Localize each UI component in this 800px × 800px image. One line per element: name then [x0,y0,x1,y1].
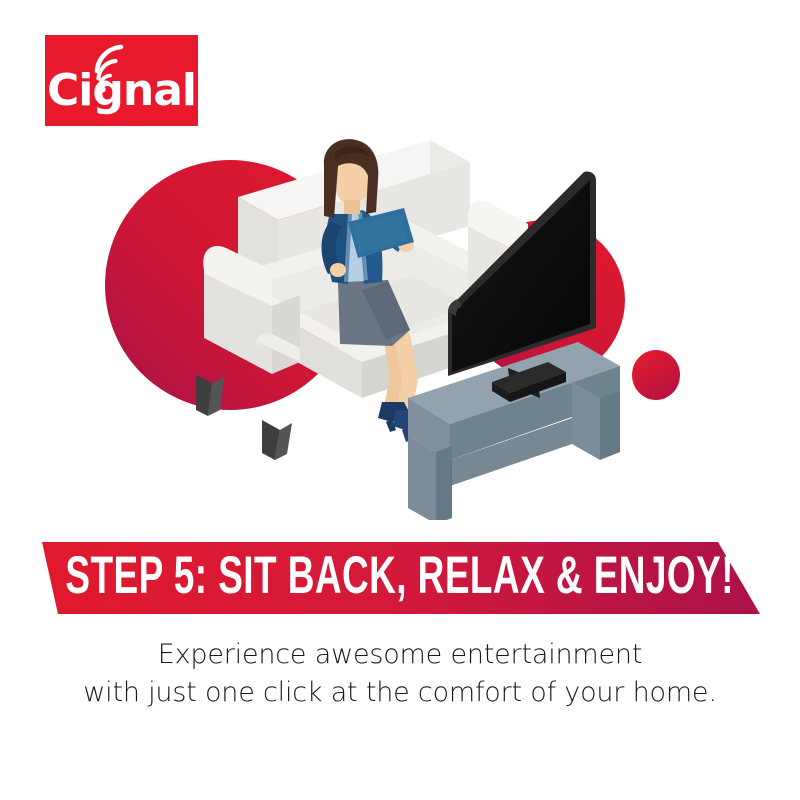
step-banner [0,528,800,624]
poster-canvas: Cignal [0,0,800,800]
caption-block: Experience awesome entertainment with ju… [0,636,800,713]
cignal-wordmark: Cignal [47,65,196,116]
tv-stand-leg-left-side [436,446,452,520]
caption-line-1: Experience awesome entertainment [0,636,800,674]
step-banner-shape [42,542,760,614]
tv-stand-leg-right-side [600,391,620,460]
woman-neck [344,200,360,214]
woman-hand-left [330,263,346,277]
background-circle-small [632,350,680,400]
cignal-logo-artwork: Cignal [45,35,198,126]
caption-line-2: with just one click at the comfort of yo… [0,674,800,712]
living-room-illustration [0,130,800,520]
cignal-logo[interactable]: Cignal [45,35,198,126]
sofa-armrest-left-side [272,295,300,374]
